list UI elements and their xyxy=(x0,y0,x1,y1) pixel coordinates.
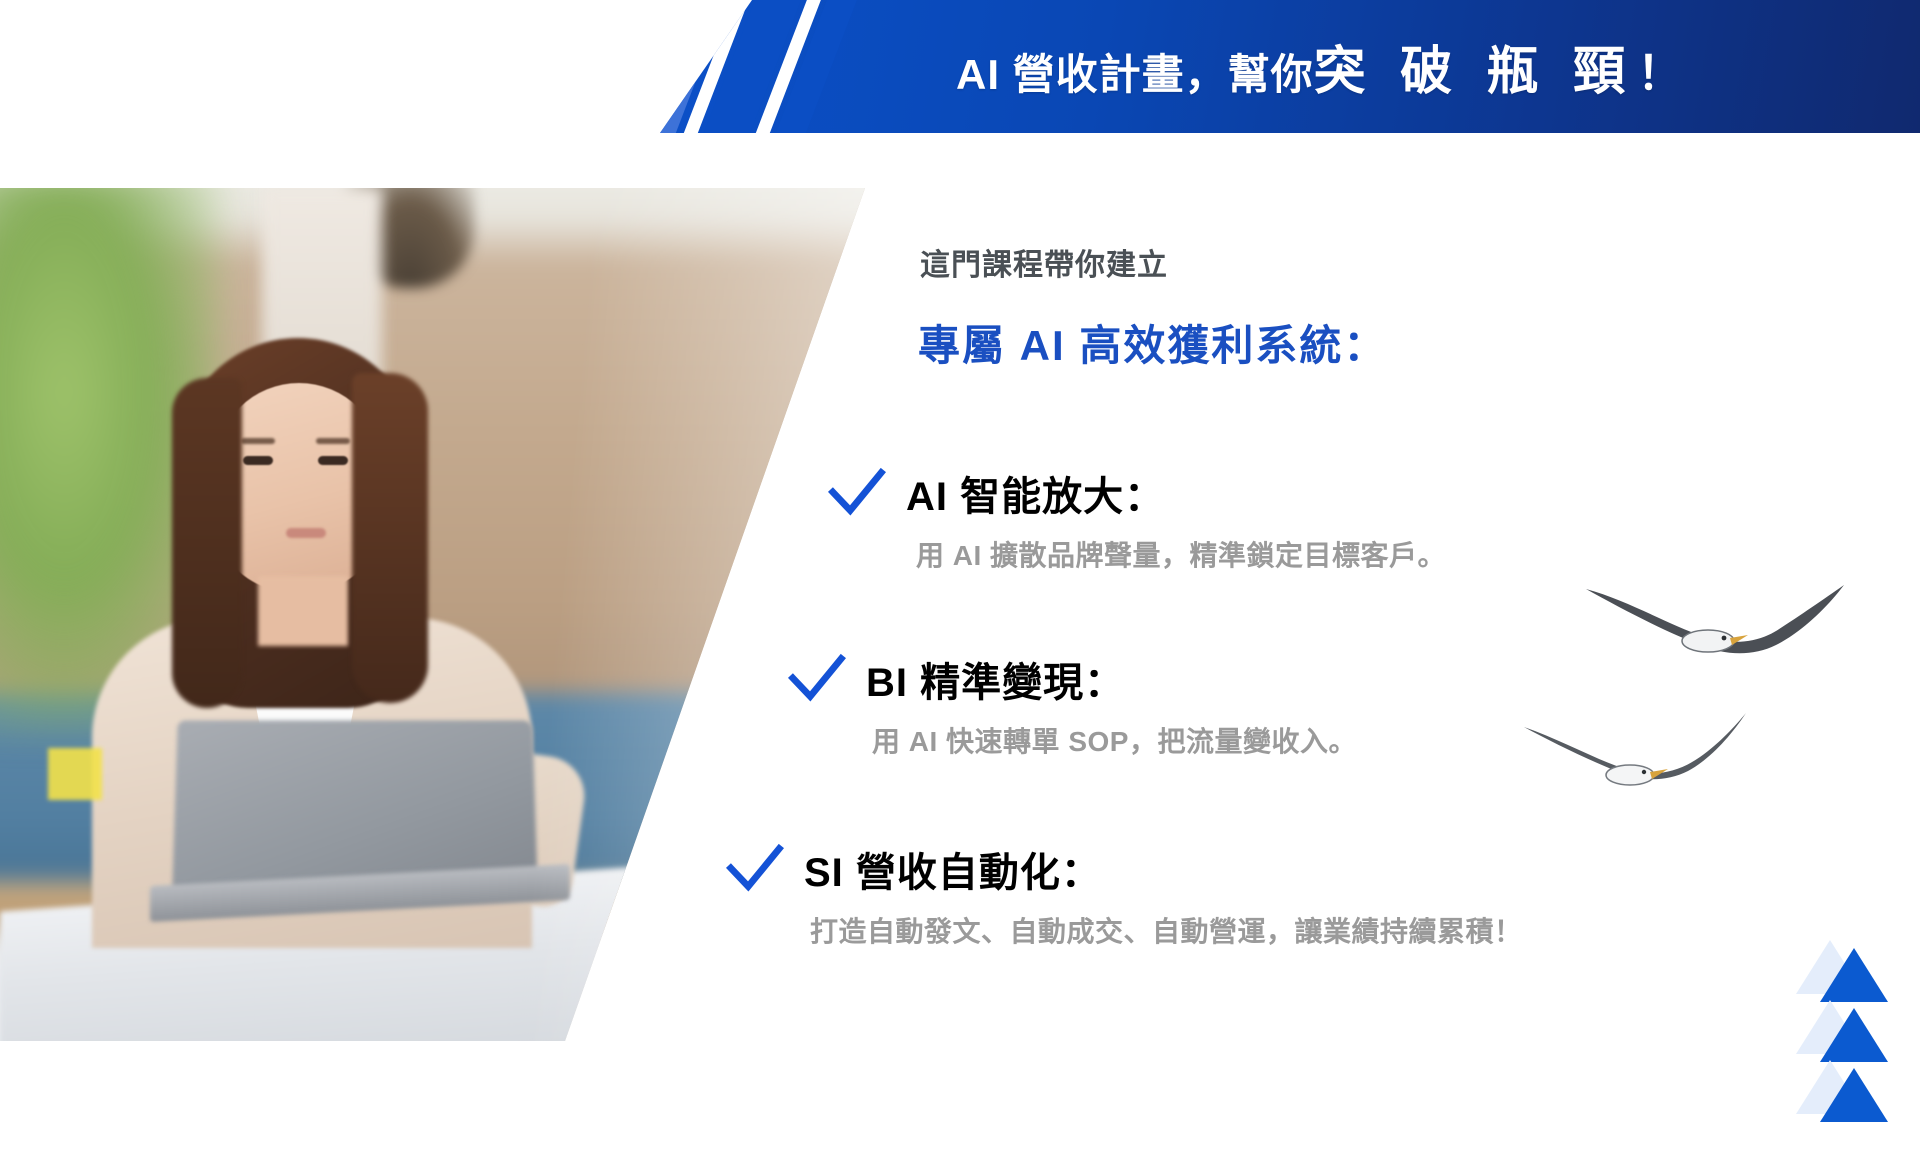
benefit-item-3-row: SI 營收自動化： xyxy=(724,838,1523,900)
benefit-item-1-row: AI 智能放大： xyxy=(826,462,1446,524)
content-column: 這門課程帶你建立 專屬 AI 高效獲利系統： AI 智能放大： 用 AI 擴散品… xyxy=(0,0,1920,1167)
triangle-icon xyxy=(1820,1068,1888,1122)
checkmark-icon xyxy=(786,648,848,710)
benefit-item-3-subtitle: 打造自動發文、自動成交、自動營運，讓業績持續累積！ xyxy=(810,910,1523,950)
seagull-icon xyxy=(1580,575,1850,695)
seagull-decoration xyxy=(1520,575,1920,845)
benefit-item-1-subtitle: 用 AI 擴散品牌聲量，精準鎖定目標客戶。 xyxy=(916,534,1446,574)
benefit-item-1: AI 智能放大： 用 AI 擴散品牌聲量，精準鎖定目標客戶。 xyxy=(826,462,1446,574)
seagull-icon xyxy=(1520,705,1750,815)
intro-eyebrow: 這門課程帶你建立 xyxy=(920,240,1168,284)
intro-headline: 專屬 AI 高效獲利系統： xyxy=(918,312,1387,373)
triangle-decoration xyxy=(1788,948,1920,1138)
triangle-icon xyxy=(1820,948,1888,1002)
benefit-item-3: SI 營收自動化： 打造自動發文、自動成交、自動營運，讓業績持續累積！ xyxy=(724,838,1523,950)
triangle-icon xyxy=(1820,1008,1888,1062)
benefit-item-2-title: BI 精準變現： xyxy=(866,650,1125,708)
benefit-item-1-title: AI 智能放大： xyxy=(906,464,1165,522)
triangle-group-3 xyxy=(1814,1068,1894,1124)
benefit-item-2: BI 精準變現： 用 AI 快速轉單 SOP，把流量變收入。 xyxy=(786,648,1357,760)
triangle-group-1 xyxy=(1814,948,1894,1004)
checkmark-icon xyxy=(724,838,786,900)
benefit-item-2-row: BI 精準變現： xyxy=(786,648,1357,710)
slide-canvas: AI 營收計畫，幫你突 破 瓶 頸！ 這門課程帶你建立 專屬 AI 高效獲利系統… xyxy=(0,0,1920,1167)
benefit-item-3-title: SI 營收自動化： xyxy=(804,840,1102,898)
benefit-item-2-subtitle: 用 AI 快速轉單 SOP，把流量變收入。 xyxy=(872,720,1357,760)
triangle-group-2 xyxy=(1814,1008,1894,1064)
checkmark-icon xyxy=(826,462,888,524)
